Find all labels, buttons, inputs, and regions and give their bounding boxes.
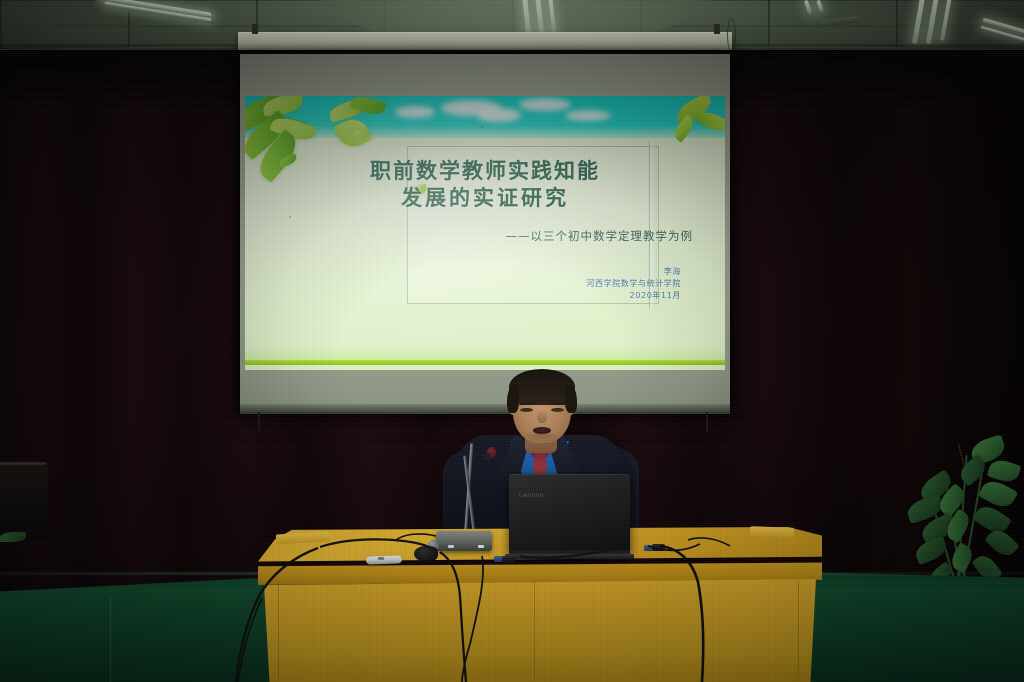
cable <box>440 552 466 682</box>
cable <box>520 548 620 558</box>
cable <box>320 539 430 548</box>
cable <box>462 556 483 682</box>
cable <box>688 538 730 546</box>
lecture-hall-scene: 职前数学教师实践知能 发展的实证研究 ——以三个初中数学定理教学为例 李海 河西… <box>0 0 1024 682</box>
cable-group <box>0 0 1024 682</box>
cable <box>236 548 318 682</box>
cable <box>238 598 262 682</box>
cable <box>660 546 703 682</box>
cable <box>396 534 436 540</box>
